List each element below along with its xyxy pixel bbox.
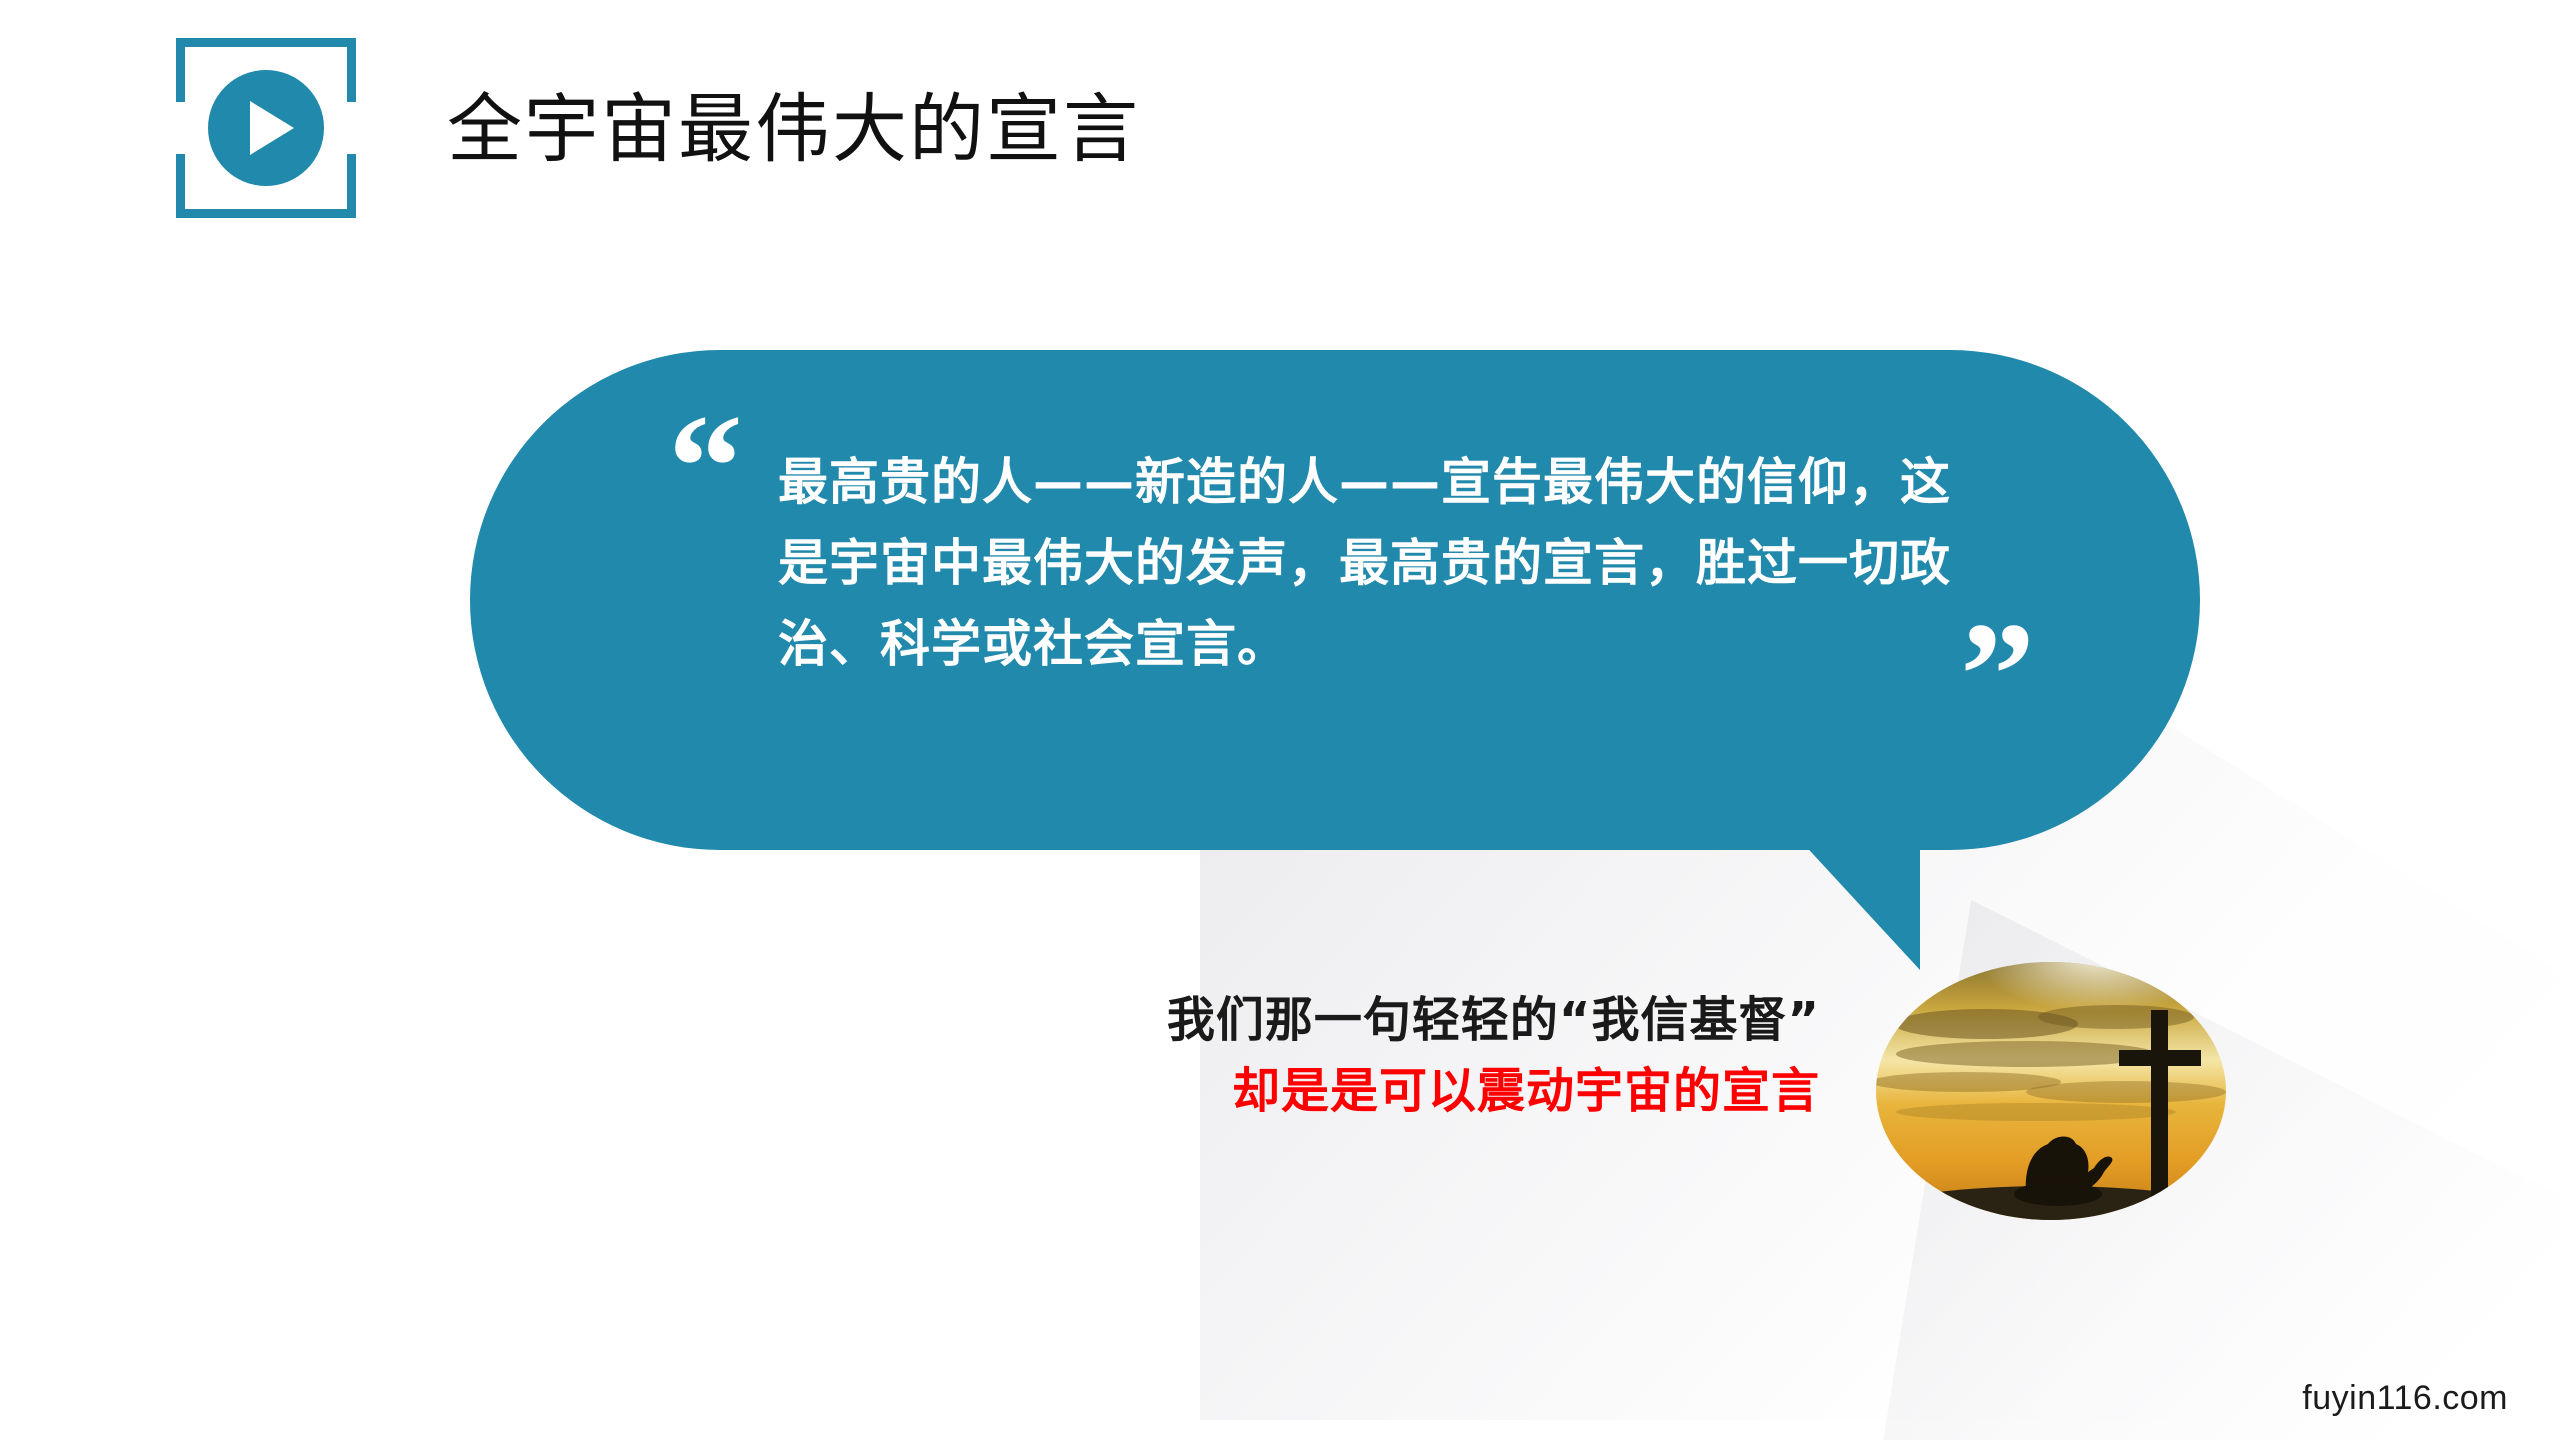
cross-sunset-illustration — [1876, 962, 2226, 1220]
cross-sunset-photo — [1876, 962, 2226, 1220]
play-button-icon[interactable] — [208, 70, 324, 186]
quote-close-mark: ” — [1960, 600, 2035, 750]
caption-line-highlight: 却是是可以震动宇宙的宣言 — [860, 1056, 1820, 1127]
quote-line: 治、科学或社会宣言。 — [778, 604, 2108, 685]
logo — [176, 38, 356, 218]
play-triangle-icon — [250, 101, 294, 155]
page-title: 全宇宙最伟大的宣言 — [447, 88, 1140, 171]
quote-open-mark: “ — [668, 392, 743, 542]
quote-line: 是宇宙中最伟大的发声，最高贵的宣言，胜过一切政 — [778, 523, 2108, 604]
slide-canvas: 全宇宙最伟大的宣言 “ 最高贵的人——新造的人——宣告最伟大的信仰，这 是宇宙中… — [0, 0, 2560, 1440]
quote-line: 最高贵的人——新造的人——宣告最伟大的信仰，这 — [778, 442, 2108, 523]
caption-line-primary: 我们那一句轻轻的“我信基督” — [860, 985, 1820, 1056]
quote-text: 最高贵的人——新造的人——宣告最伟大的信仰，这 是宇宙中最伟大的发声，最高贵的宣… — [778, 442, 2108, 685]
quote-bubble-tail — [1780, 840, 1920, 970]
site-watermark: fuyin116.com — [2302, 1379, 2508, 1418]
slide-header: 全宇宙最伟大的宣言 — [0, 0, 2560, 230]
caption-block: 我们那一句轻轻的“我信基督” 却是是可以震动宇宙的宣言 — [860, 985, 1820, 1127]
